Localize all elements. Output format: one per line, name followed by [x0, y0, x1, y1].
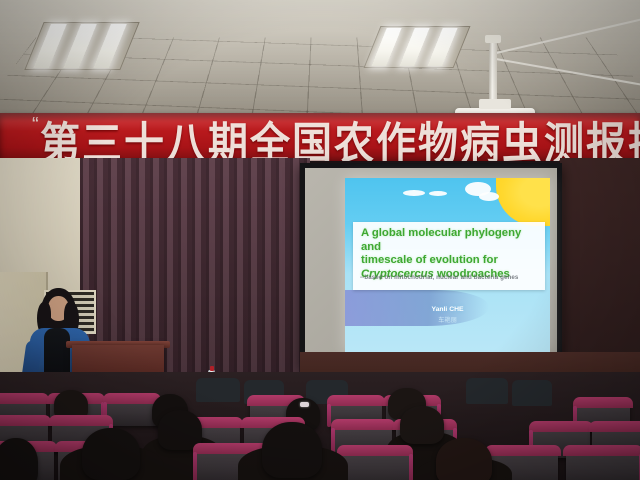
lecture-hall-photo: “ 第三十八期全国农作物病虫测报技术培训班 A global molecular… — [0, 0, 640, 480]
ceiling — [0, 0, 640, 118]
cloud-graphic — [429, 191, 447, 196]
seat[interactable] — [566, 448, 640, 480]
slide-author: Yanli CHE — [345, 306, 550, 313]
ceiling-light-left — [24, 22, 139, 70]
event-banner: “ 第三十八期全国农作物病虫测报技术培训班 — [0, 113, 640, 161]
audience-head — [82, 428, 140, 480]
slide-subtitle: --based on mitochodrial, nuclear and bac… — [360, 274, 542, 281]
projection-screen: A global molecular phylogeny and timesca… — [300, 163, 562, 368]
audience-head — [436, 438, 492, 480]
ceiling-light-right — [364, 26, 471, 68]
seat[interactable] — [106, 396, 158, 426]
slide-author-chinese: 车艳丽 — [345, 315, 550, 324]
chair-back — [512, 380, 552, 406]
presenter-inner-top — [44, 328, 70, 378]
seat[interactable] — [340, 448, 410, 480]
projector-mount-plate — [479, 99, 511, 109]
screen-surface: A global molecular phylogeny and timesca… — [305, 168, 557, 360]
banner-text: 第三十八期全国农作物病虫测报技术培训班 — [40, 113, 640, 161]
cloud-graphic — [403, 190, 425, 196]
chair-back — [466, 378, 508, 404]
audience-seating-area — [0, 372, 640, 480]
slide-title-line1: A global molecular phylogeny and — [361, 227, 521, 253]
banner-open-quote: “ — [32, 114, 39, 137]
slide-title-line2: timescale of evolution for — [361, 254, 498, 266]
presentation-slide: A global molecular phylogeny and timesca… — [345, 178, 550, 353]
hair-clip — [300, 402, 309, 407]
audience-head — [262, 422, 322, 478]
cloud-graphic — [479, 192, 499, 201]
chair-back — [196, 378, 240, 402]
sun-graphic — [496, 178, 550, 226]
slide-title-card: A global molecular phylogeny and timesca… — [353, 222, 545, 290]
audience-head — [400, 406, 444, 444]
